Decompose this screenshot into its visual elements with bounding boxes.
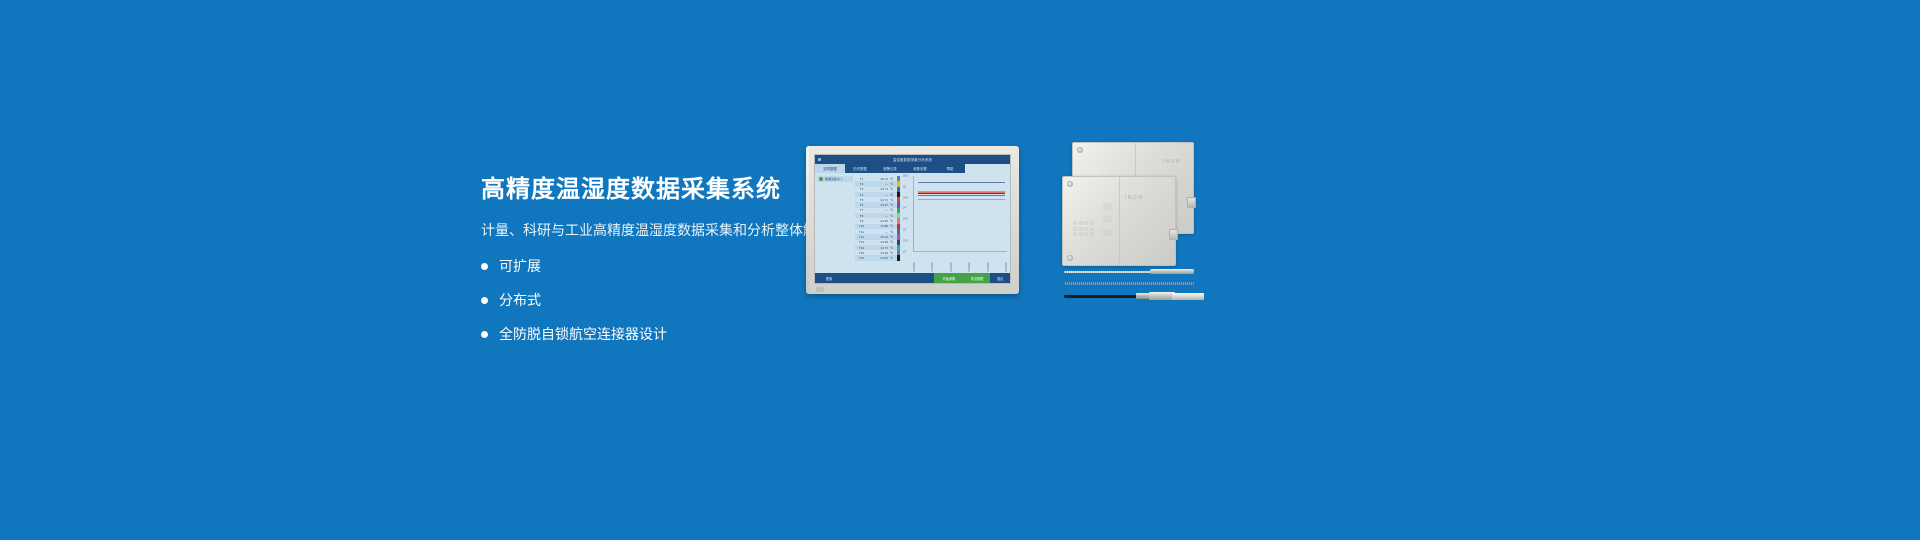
table-row[interactable]: T8---℃ — [855, 213, 901, 218]
table-row[interactable]: T1024.88℃ — [855, 224, 901, 229]
port-label — [1103, 203, 1112, 210]
table-row[interactable]: T924.96℃ — [855, 218, 901, 223]
probe-ferrule — [1136, 293, 1150, 299]
cell-value: 24.94 — [868, 256, 890, 260]
cell-channel: T16 — [855, 256, 868, 260]
cell-channel: T2 — [855, 182, 868, 186]
action-bar: 配置 开始采集 导出数据 退出 — [815, 273, 1010, 283]
key-cell — [1084, 221, 1088, 225]
screen-body: 数据采集仪 1 T125.13℃T2---℃T324.74℃T4---℃T524… — [815, 173, 1010, 273]
panel-seam — [1119, 177, 1120, 265]
table-row[interactable]: T2---℃ — [855, 181, 901, 186]
cell-unit: ℃ — [890, 177, 897, 181]
hardware-group: INON INON — [1062, 142, 1212, 297]
cell-channel: T3 — [855, 187, 868, 191]
chart-series-line — [918, 195, 1005, 196]
cell-unit: ℃ — [890, 219, 897, 223]
table-row[interactable]: T324.74℃ — [855, 187, 901, 192]
cell-channel: T1 — [855, 177, 868, 181]
probe-armored — [1064, 269, 1194, 274]
online-status-icon — [819, 177, 823, 181]
tab-history[interactable]: 历史数据 — [845, 164, 875, 173]
key-cell — [1090, 221, 1094, 225]
key-cell — [1084, 232, 1088, 236]
cell-unit: ℃ — [890, 256, 897, 260]
exit-button[interactable]: 退出 — [990, 273, 1010, 283]
cell-channel: T13 — [855, 240, 868, 244]
table-row[interactable]: T1324.28℃ — [855, 240, 901, 245]
tab-settings[interactable]: 参数设置 — [905, 164, 935, 173]
monitor-stand — [816, 287, 824, 292]
keypad-graphic — [1073, 221, 1094, 236]
screw-icon — [1077, 147, 1083, 153]
monitor-screen: 温湿度数据采集分析系统 实时数据 历史数据 报警记录 参数设置 帮助 数据采集仪… — [814, 154, 1011, 284]
chart-x-axis: 10:00:0010:10:0010:20:0010:30:0010:40:00… — [913, 258, 1008, 272]
panel-monitor: 温湿度数据采集分析系统 实时数据 历史数据 报警记录 参数设置 帮助 数据采集仪… — [806, 146, 1019, 294]
cell-value: --- — [868, 214, 890, 218]
key-cell — [1090, 232, 1094, 236]
y-axis-tick: 24 — [903, 207, 906, 210]
device-tree-panel: 数据采集仪 1 — [815, 173, 855, 273]
screw-icon — [1067, 255, 1073, 261]
tab-realtime[interactable]: 实时数据 — [815, 164, 845, 173]
connector-port — [1169, 229, 1178, 240]
cell-value: --- — [868, 230, 890, 234]
series-color-swatch — [897, 255, 900, 260]
list-item: 分布式 — [481, 292, 1001, 309]
tab-bar: 实时数据 历史数据 报警记录 参数设置 帮助 — [815, 164, 1010, 173]
config-button[interactable]: 配置 — [815, 273, 843, 283]
cell-channel: T9 — [855, 219, 868, 223]
device-tree-node[interactable]: 数据采集仪 1 — [817, 176, 853, 182]
cell-value: --- — [868, 182, 890, 186]
app-titlebar: 温湿度数据采集分析系统 — [815, 155, 1010, 164]
cell-channel: T7 — [855, 208, 868, 212]
x-axis-tick: 10:10:00 — [931, 258, 934, 272]
tab-help[interactable]: 帮助 — [935, 164, 965, 173]
table-row[interactable]: T7---℃ — [855, 208, 901, 213]
y-axis-tick: 22 — [903, 250, 906, 253]
cell-value: 24.90 — [868, 251, 890, 255]
table-row[interactable]: T624.87℃ — [855, 202, 901, 207]
feature-label: 全防脱自锁航空连接器设计 — [499, 326, 667, 343]
key-cell — [1079, 227, 1083, 231]
cell-value: 24.28 — [868, 240, 890, 244]
table-row[interactable]: T1424.73℃ — [855, 245, 901, 250]
start-acquisition-button[interactable]: 开始采集 — [934, 273, 964, 283]
key-cell — [1084, 227, 1088, 231]
cell-value: 24.87 — [868, 203, 890, 207]
cell-channel: T12 — [855, 235, 868, 239]
x-axis-tick: 10:00:00 — [913, 258, 916, 272]
port-label-block — [1103, 203, 1112, 242]
bullet-dot-icon — [481, 297, 488, 304]
cell-channel: T4 — [855, 193, 868, 197]
feature-label: 可扩展 — [499, 258, 541, 275]
chart-series-line — [918, 199, 1005, 200]
probe-aviation-connector — [1064, 292, 1204, 300]
brand-logo: INON — [1125, 195, 1144, 201]
trend-chart: 25.52524.52423.52322.522 10:00:0010:10:0… — [901, 173, 1010, 273]
bullet-dot-icon — [481, 263, 488, 270]
cell-value: --- — [868, 193, 890, 197]
x-axis-tick: 10:20:00 — [950, 258, 953, 272]
cell-value: 24.96 — [868, 219, 890, 223]
cell-unit: ℃ — [890, 193, 897, 197]
cell-unit: ℃ — [890, 182, 897, 186]
probe-cable — [1064, 271, 1152, 273]
app-title: 温湿度数据采集分析系统 — [815, 157, 1010, 162]
cell-channel: T10 — [855, 224, 868, 228]
cell-unit: ℃ — [890, 246, 897, 250]
cell-channel: T6 — [855, 203, 868, 207]
export-data-button[interactable]: 导出数据 — [964, 273, 990, 283]
table-row[interactable]: T125.13℃ — [855, 176, 901, 181]
chart-series-layer — [913, 176, 1007, 252]
feature-label: 分布式 — [499, 292, 541, 309]
acquisition-module-front: INON — [1062, 176, 1176, 266]
table-row[interactable]: T4---℃ — [855, 192, 901, 197]
connector-port — [1187, 197, 1196, 208]
y-axis-tick: 24.5 — [903, 196, 908, 199]
tab-alarms[interactable]: 报警记录 — [875, 164, 905, 173]
probe-tip — [1150, 269, 1194, 274]
table-row[interactable]: T1225.04℃ — [855, 234, 901, 239]
cell-unit: ℃ — [890, 198, 897, 202]
table-row[interactable]: T1624.94℃ — [855, 255, 901, 260]
cell-unit: ℃ — [890, 214, 897, 218]
cell-unit: ℃ — [890, 240, 897, 244]
cell-channel: T15 — [855, 251, 868, 255]
probe-cable — [1064, 295, 1140, 298]
channel-table: T125.13℃T2---℃T324.74℃T4---℃T524.72℃T624… — [855, 173, 901, 273]
y-axis-tick: 25 — [903, 185, 906, 188]
y-axis-tick: 25.5 — [903, 175, 908, 178]
cell-value: 24.72 — [868, 198, 890, 202]
cell-value: 24.88 — [868, 224, 890, 228]
cell-channel: T14 — [855, 246, 868, 250]
key-cell — [1073, 232, 1077, 236]
y-axis-tick: 22.5 — [903, 239, 908, 242]
key-cell — [1073, 221, 1077, 225]
chart-y-axis: 25.52524.52423.52322.522 — [903, 176, 912, 252]
bullet-dot-icon — [481, 331, 488, 338]
device-name: 数据采集仪 1 — [825, 177, 843, 181]
cell-value: 24.74 — [868, 187, 890, 191]
cell-value: 24.73 — [868, 246, 890, 250]
chart-series-line — [918, 182, 1005, 183]
key-cell — [1079, 232, 1083, 236]
key-cell — [1090, 227, 1094, 231]
key-cell — [1073, 227, 1077, 231]
probe-cable — [1064, 282, 1194, 285]
cell-channel: T11 — [855, 230, 868, 234]
x-axis-tick: 10:30:00 — [968, 258, 971, 272]
probe-blue-cable — [1064, 282, 1194, 285]
table-row[interactable]: T1524.90℃ — [855, 250, 901, 255]
tab-bar-filler — [965, 164, 1010, 173]
product-banner: 高精度温湿度数据采集系统 计量、科研与工业高精度温湿度数据采集和分析整体解决方案… — [0, 0, 1920, 540]
port-label — [1103, 216, 1112, 223]
y-axis-tick: 23 — [903, 229, 906, 232]
cell-channel: T5 — [855, 198, 868, 202]
table-row[interactable]: T11---℃ — [855, 229, 901, 234]
cell-unit: ℃ — [890, 203, 897, 207]
x-axis-tick: 10:40:00 — [987, 258, 990, 272]
port-label — [1103, 229, 1112, 236]
cell-value: --- — [868, 208, 890, 212]
cell-unit: ℃ — [890, 235, 897, 239]
cell-channel: T8 — [855, 214, 868, 218]
connector-sleeve — [1172, 293, 1204, 300]
screw-icon — [1067, 181, 1073, 187]
cell-unit: ℃ — [890, 224, 897, 228]
cell-unit: ℃ — [890, 187, 897, 191]
cell-unit: ℃ — [890, 208, 897, 212]
x-axis-tick: 10:50:00 — [1005, 258, 1008, 272]
cell-value: 25.13 — [868, 177, 890, 181]
table-row[interactable]: T524.72℃ — [855, 197, 901, 202]
y-axis-tick: 23.5 — [903, 218, 908, 221]
cell-value: 25.04 — [868, 235, 890, 239]
cell-unit: ℃ — [890, 251, 897, 255]
key-cell — [1079, 221, 1083, 225]
cell-unit: ℃ — [890, 230, 897, 234]
brand-logo: INON — [1163, 159, 1182, 165]
chart-plot-area: 25.52524.52423.52322.522 — [903, 176, 1007, 252]
list-item: 全防脱自锁航空连接器设计 — [481, 326, 1001, 343]
